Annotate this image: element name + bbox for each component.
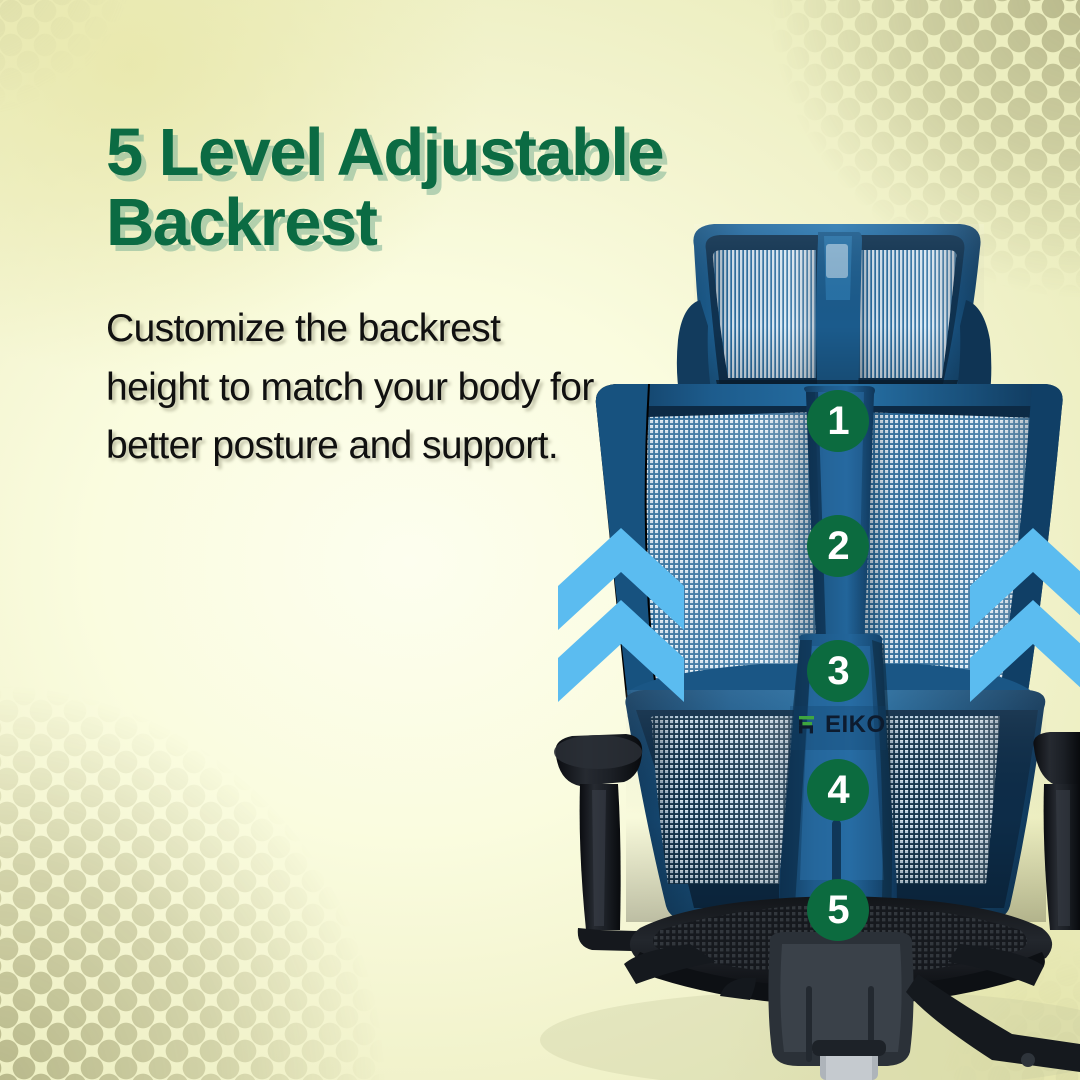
level-badge-2[interactable]: 2 [807, 515, 869, 577]
poster-canvas: EIKO 1 2 3 4 5 5 Level Adjustable Backre… [0, 0, 1080, 1080]
chevron-arrows-right [968, 524, 1080, 704]
chair-r-icon [797, 713, 823, 737]
description-text: Customize the backrest height to match y… [106, 300, 606, 476]
level-badge-4[interactable]: 4 [807, 759, 869, 821]
page-title: 5 Level Adjustable Backrest [106, 118, 806, 257]
brand-logo: EIKO [797, 713, 886, 737]
level-badge-3[interactable]: 3 [807, 640, 869, 702]
chevron-arrows-left [556, 524, 686, 704]
level-badge-1[interactable]: 1 [807, 390, 869, 452]
level-badge-5[interactable]: 5 [807, 879, 869, 941]
brand-name: EIKO [825, 713, 886, 737]
